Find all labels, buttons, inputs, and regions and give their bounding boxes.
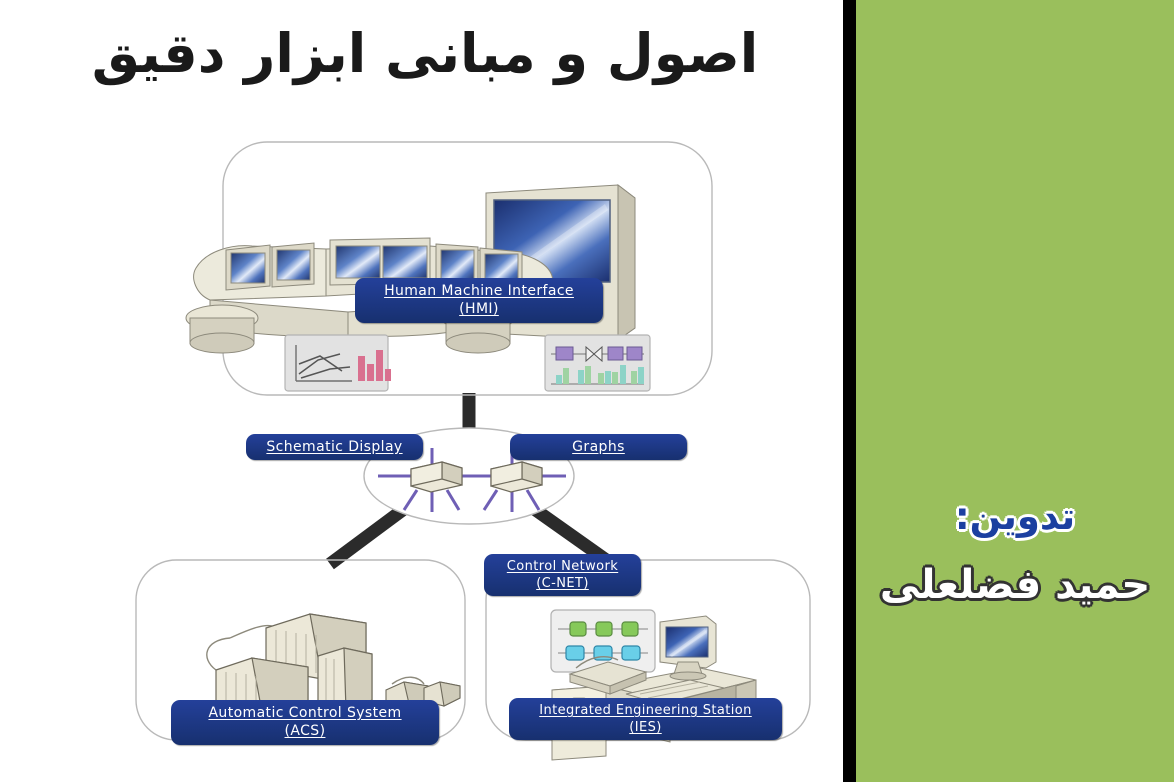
control-network-label[interactable]: Control Network (C-NET) bbox=[484, 554, 641, 596]
credit-block: تدوین: حمید فضلعلی bbox=[856, 495, 1174, 609]
hmi-label[interactable]: Human Machine Interface (HMI) bbox=[355, 278, 603, 323]
control-room-console-icon bbox=[186, 185, 635, 353]
architecture-diagram: Human Machine Interface (HMI) Schematic … bbox=[0, 128, 843, 782]
link-cnet-acs bbox=[330, 506, 408, 564]
credit-author-name: حمید فضلعلی bbox=[856, 561, 1174, 609]
page-title: اصول و مبانی ابزار دقیق bbox=[20, 20, 830, 88]
ies-label-line1: Integrated Engineering Station bbox=[539, 703, 752, 718]
process-blocks-bars-icon bbox=[545, 335, 650, 391]
right-black-divider bbox=[843, 0, 856, 782]
ies-label-line2: (IES) bbox=[629, 720, 661, 735]
line-chart-bars-icon bbox=[285, 335, 391, 391]
hmi-label-line1: Human Machine Interface bbox=[384, 283, 574, 299]
graphs-label[interactable]: Graphs bbox=[510, 434, 687, 460]
acs-label[interactable]: Automatic Control System (ACS) bbox=[171, 700, 439, 745]
cnet-label-line1: Control Network bbox=[507, 559, 618, 574]
ies-label[interactable]: Integrated Engineering Station (IES) bbox=[509, 698, 782, 740]
credit-role-label: تدوین: bbox=[856, 495, 1174, 539]
graphs-label-text: Graphs bbox=[572, 439, 625, 455]
schematic-display-label-text: Schematic Display bbox=[266, 439, 402, 455]
acs-label-line2: (ACS) bbox=[285, 723, 326, 739]
cnet-label-line2: (C-NET) bbox=[536, 576, 589, 591]
schematic-display-label[interactable]: Schematic Display bbox=[246, 434, 423, 460]
right-green-panel bbox=[856, 0, 1174, 782]
slide-root: اصول و مبانی ابزار دقیق bbox=[0, 0, 1174, 782]
acs-label-line1: Automatic Control System bbox=[208, 705, 401, 721]
hmi-label-line2: (HMI) bbox=[459, 301, 499, 317]
